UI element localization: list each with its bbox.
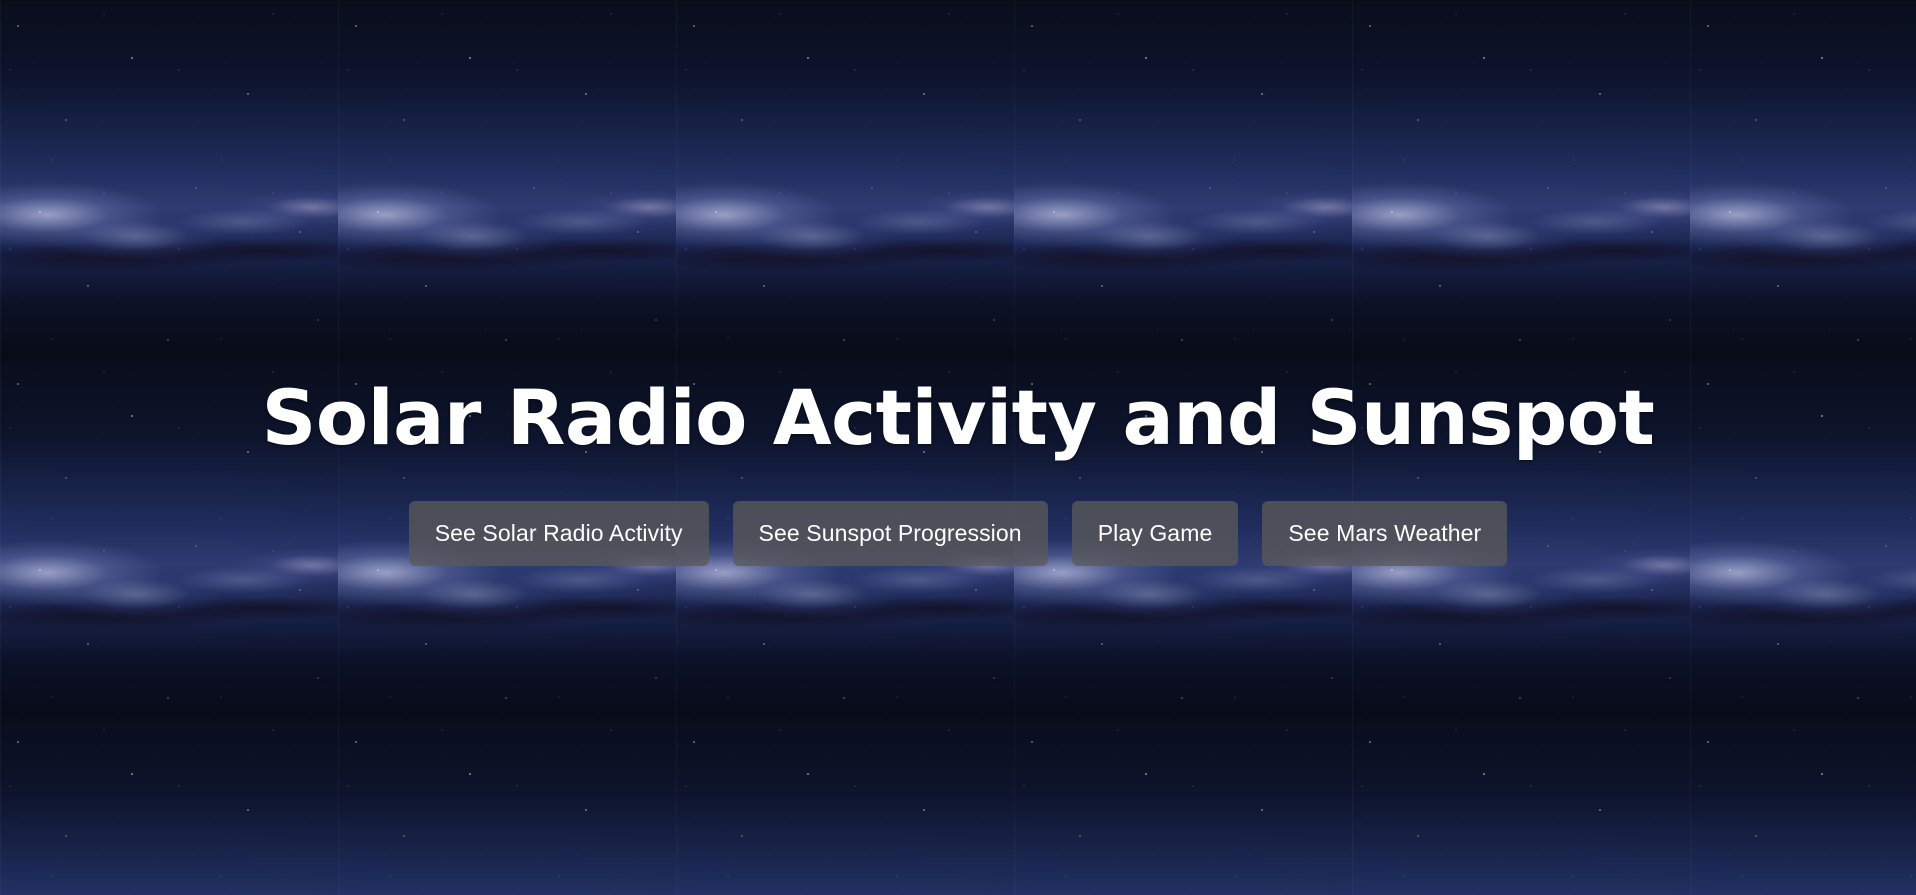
page-title: Solar Radio Activity and Sunspot	[262, 378, 1655, 458]
play-game-button[interactable]: Play Game	[1072, 501, 1239, 566]
see-mars-weather-button[interactable]: See Mars Weather	[1262, 501, 1507, 566]
hero-button-row: See Solar Radio Activity See Sunspot Pro…	[409, 501, 1508, 566]
hero-banner: Solar Radio Activity and Sunspot See Sol…	[0, 0, 1916, 895]
see-solar-radio-activity-button[interactable]: See Solar Radio Activity	[409, 501, 709, 566]
hero-content: Solar Radio Activity and Sunspot See Sol…	[0, 0, 1916, 895]
see-sunspot-progression-button[interactable]: See Sunspot Progression	[733, 501, 1048, 566]
